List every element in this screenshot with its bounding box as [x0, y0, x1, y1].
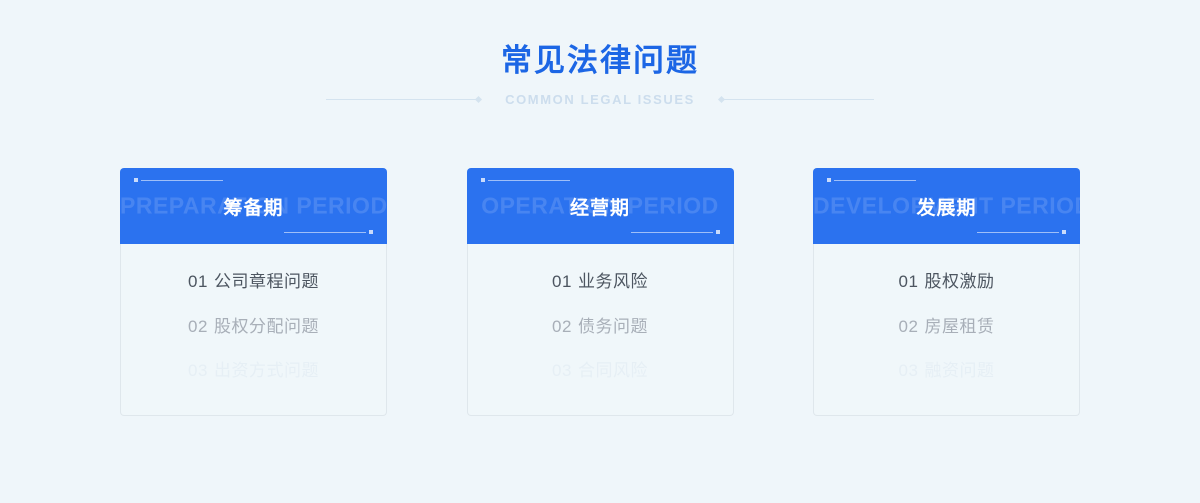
issue-text: 公司章程问题	[214, 272, 319, 291]
deco-bar	[488, 180, 570, 181]
card-title: 发展期	[916, 193, 976, 220]
list-item[interactable]: 02股权分配问题	[121, 315, 386, 340]
card-header-operation: OPERATION PERIOD 经营期	[467, 168, 734, 244]
square-dot-icon	[716, 230, 720, 234]
list-item[interactable]: 02债务问题	[468, 315, 733, 340]
square-dot-icon	[827, 178, 831, 182]
square-dot-icon	[134, 178, 138, 182]
list-item[interactable]: 01业务风险	[468, 270, 733, 295]
issue-number: 01	[188, 272, 208, 291]
card-header-development: DEVELOPMENT PERIOD 发展期	[813, 168, 1080, 244]
card-body-development: 01股权激励 02房屋租赁 03融资问题	[813, 244, 1080, 416]
cards-row: PREPARATION PERIOD 筹备期 01公司章程问题 02股权分配问题…	[120, 168, 1080, 416]
header-deco-top-left	[134, 178, 223, 182]
header-deco-top-left	[827, 178, 916, 182]
issue-text: 房屋租赁	[924, 317, 994, 336]
issue-text: 融资问题	[924, 361, 994, 380]
issue-text: 出资方式问题	[214, 361, 319, 380]
issue-number: 03	[188, 361, 208, 380]
deco-bar	[141, 180, 223, 181]
deco-bar	[834, 180, 916, 181]
deco-bar	[977, 232, 1059, 233]
issue-number: 01	[899, 272, 919, 291]
issue-number: 03	[552, 361, 572, 380]
issue-text: 股权激励	[924, 272, 994, 291]
card-title: 筹备期	[223, 193, 283, 220]
issue-text: 业务风险	[578, 272, 648, 291]
list-item[interactable]: 01股权激励	[814, 270, 1079, 295]
deco-bar	[631, 232, 713, 233]
card-operation-period[interactable]: OPERATION PERIOD 经营期 01业务风险 02债务问题 03合同风…	[467, 168, 734, 416]
card-preparation-period[interactable]: PREPARATION PERIOD 筹备期 01公司章程问题 02股权分配问题…	[120, 168, 387, 416]
card-body-preparation: 01公司章程问题 02股权分配问题 03出资方式问题	[120, 244, 387, 416]
square-dot-icon	[481, 178, 485, 182]
issue-text: 股权分配问题	[214, 317, 319, 336]
list-item[interactable]: 02房屋租赁	[814, 315, 1079, 340]
issue-number: 02	[188, 317, 208, 336]
page-header: 常见法律问题 COMMON LEGAL ISSUES	[0, 0, 1200, 107]
issue-number: 03	[899, 361, 919, 380]
header-deco-bottom-right	[977, 230, 1066, 234]
issue-number: 01	[552, 272, 572, 291]
decorative-line-left	[326, 99, 476, 100]
list-item[interactable]: 01公司章程问题	[121, 270, 386, 295]
header-deco-top-left	[481, 178, 570, 182]
header-deco-bottom-right	[284, 230, 373, 234]
square-dot-icon	[369, 230, 373, 234]
square-dot-icon	[1062, 230, 1066, 234]
card-header-preparation: PREPARATION PERIOD 筹备期	[120, 168, 387, 244]
issue-text: 债务问题	[578, 317, 648, 336]
deco-bar	[284, 232, 366, 233]
issue-number: 02	[899, 317, 919, 336]
issue-text: 合同风险	[578, 361, 648, 380]
list-item[interactable]: 03融资问题	[814, 359, 1079, 384]
header-deco-bottom-right	[631, 230, 720, 234]
subtitle-row: COMMON LEGAL ISSUES	[0, 92, 1200, 107]
decorative-line-right	[724, 99, 874, 100]
card-body-operation: 01业务风险 02债务问题 03合同风险	[467, 244, 734, 416]
page-title: 常见法律问题	[0, 44, 1200, 78]
page-subtitle: COMMON LEGAL ISSUES	[481, 92, 719, 107]
card-development-period[interactable]: DEVELOPMENT PERIOD 发展期 01股权激励 02房屋租赁 03融…	[813, 168, 1080, 416]
list-item[interactable]: 03合同风险	[468, 359, 733, 384]
list-item[interactable]: 03出资方式问题	[121, 359, 386, 384]
card-title: 经营期	[570, 193, 630, 220]
issue-number: 02	[552, 317, 572, 336]
